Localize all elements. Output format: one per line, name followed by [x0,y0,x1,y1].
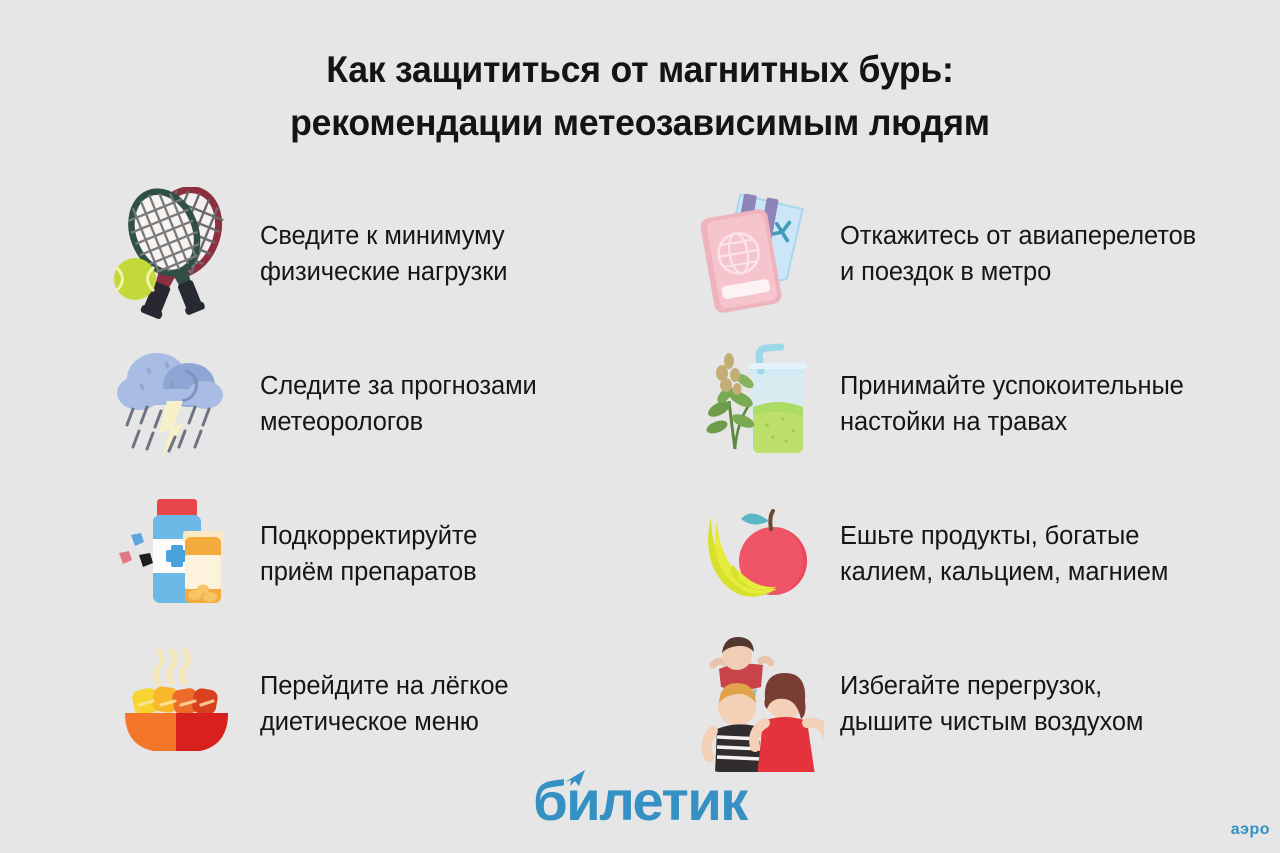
logo-subtext: аэро [1231,821,1270,839]
storm-cloud-icon [106,334,246,474]
tip-avoid-air-travel: Откажитесь от авиаперелетов и поездок в … [686,179,1280,329]
tips-grid: Сведите к минимуму физические нагрузки [50,179,1230,779]
tip-label: Ешьте продукты, богатые калием, кальцием… [840,518,1168,590]
tip-take-herbal-sedatives: Принимайте успокоительные настойки на тр… [686,329,1280,479]
tip-adjust-medication: Подкорректируйте приём препаратов [106,479,666,629]
airplane-icon [563,768,589,790]
herbal-drink-icon [686,334,826,474]
banana-apple-icon [686,484,826,624]
tip-eat-mineral-rich-food: Ешьте продукты, богатые калием, кальцием… [686,479,1280,629]
tip-minimize-physical-activity: Сведите к минимуму физические нагрузки [106,179,666,329]
passport-tickets-icon [686,184,826,324]
medicine-bottles-icon [106,484,246,624]
tennis-rackets-icon [106,184,246,324]
brand-logo[interactable]: билетик аэро [0,774,1280,839]
tip-label: Избегайте перегрузок, дышите чистым возд… [840,668,1143,740]
tip-label: Следите за прогнозами метеорологов [260,368,537,440]
page-title-line-2: рекомендации метеозависимым людям [160,97,1120,150]
tip-label: Подкорректируйте приём препаратов [260,518,477,590]
page-title-line-1: Как защититься от магнитных бурь: [160,44,1120,97]
tip-label: Сведите к минимуму физические нагрузки [260,218,507,290]
tip-label: Откажитесь от авиаперелетов и поездок в … [840,218,1196,290]
page-title: Как защититься от магнитных бурь: рекоме… [160,44,1120,149]
logo-wordmark: билетик [533,774,747,827]
tip-switch-to-light-diet: Перейдите на лёгкое диетическое меню [106,629,666,779]
tip-label: Перейдите на лёгкое диетическое меню [260,668,509,740]
tip-avoid-overload-fresh-air: Избегайте перегрузок, дышите чистым возд… [686,629,1280,779]
infographic-page: Как защититься от магнитных бурь: рекоме… [0,0,1280,853]
tip-follow-weather-forecasts: Следите за прогнозами метеорологов [106,329,666,479]
tip-label: Принимайте успокоительные настойки на тр… [840,368,1184,440]
food-bowl-icon [106,634,246,774]
family-children-icon [686,634,826,774]
